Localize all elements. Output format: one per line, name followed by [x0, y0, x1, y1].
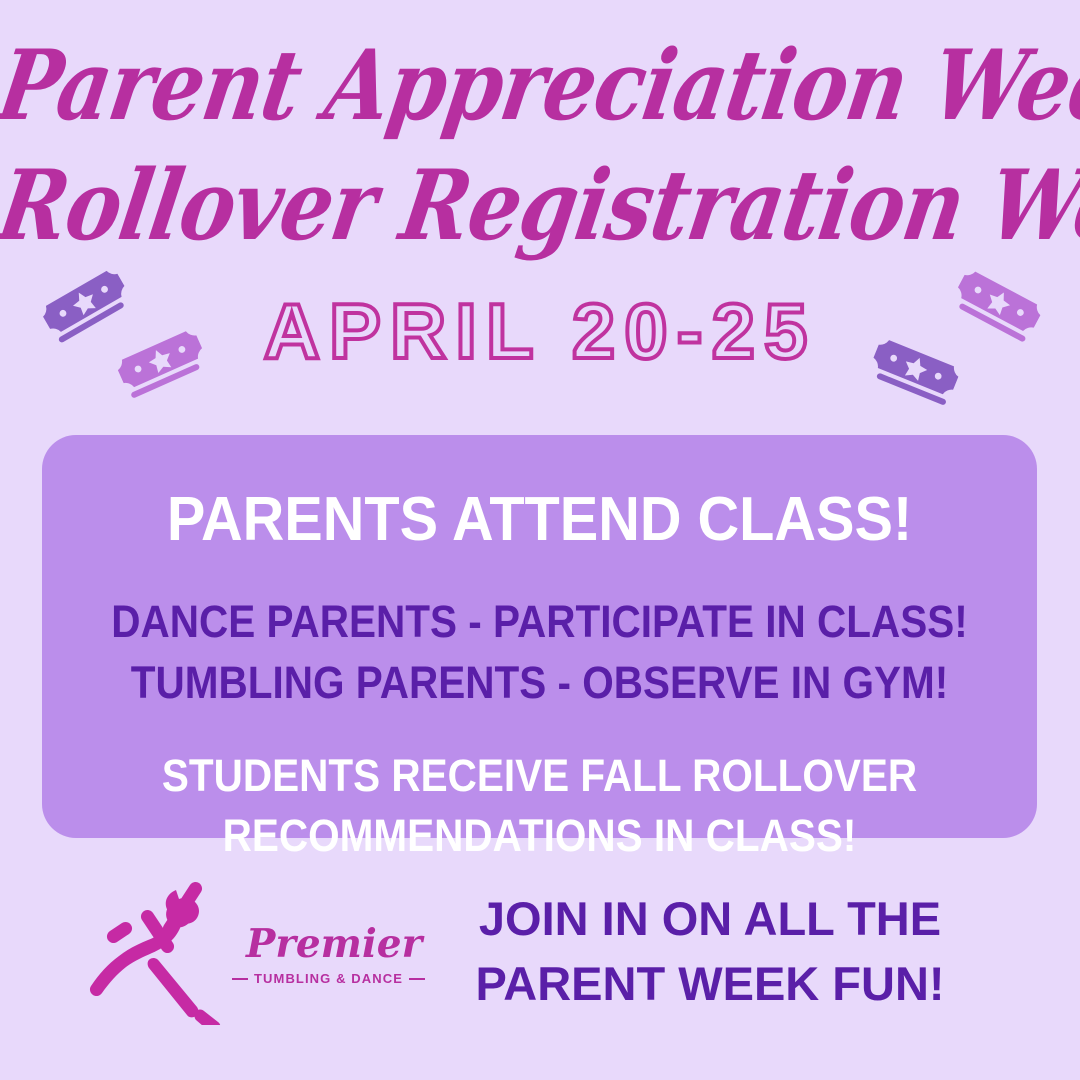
logo-name: Premier	[246, 925, 411, 964]
dancer-silhouette-icon	[78, 875, 238, 1030]
panel-dark-line-1: DANCE PARENTS - PARTICIPATE IN CLASS!	[92, 592, 988, 653]
panel-dark-line-2: TUMBLING PARENTS - OBSERVE IN GYM!	[92, 653, 988, 714]
announcement-panel: PARENTS ATTEND CLASS! DANCE PARENTS - PA…	[42, 435, 1037, 838]
panel-white-line-2: RECOMMENDATIONS IN CLASS!	[92, 806, 988, 867]
panel-white-line-1: STUDENTS RECEIVE FALL ROLLOVER	[92, 746, 988, 807]
tagline-rule-left	[232, 978, 248, 980]
tagline-rule-right	[409, 978, 425, 980]
headline-line-2: Rollover Registration Week	[0, 149, 1080, 262]
logo-tagline-row: TUMBLING & DANCE	[246, 971, 411, 986]
logo-tagline: TUMBLING & DANCE	[254, 971, 403, 986]
premier-logo: Premier TUMBLING & DANCE	[78, 875, 408, 1035]
call-to-action: JOIN IN ON ALL THE PARENT WEEK FUN!	[430, 887, 990, 1017]
cta-line-1: JOIN IN ON ALL THE	[430, 887, 990, 952]
footer: Premier TUMBLING & DANCE JOIN IN ON ALL …	[0, 865, 1080, 1055]
panel-headline: PARENTS ATTEND CLASS!	[77, 483, 1002, 556]
logo-wordmark: Premier TUMBLING & DANCE	[246, 925, 411, 986]
headline-line-1: Parent Appreciation Week	[0, 29, 1080, 142]
cta-line-2: PARENT WEEK FUN!	[430, 952, 990, 1017]
promo-poster: Parent Appreciation Week Rollover Regist…	[0, 0, 1080, 1080]
